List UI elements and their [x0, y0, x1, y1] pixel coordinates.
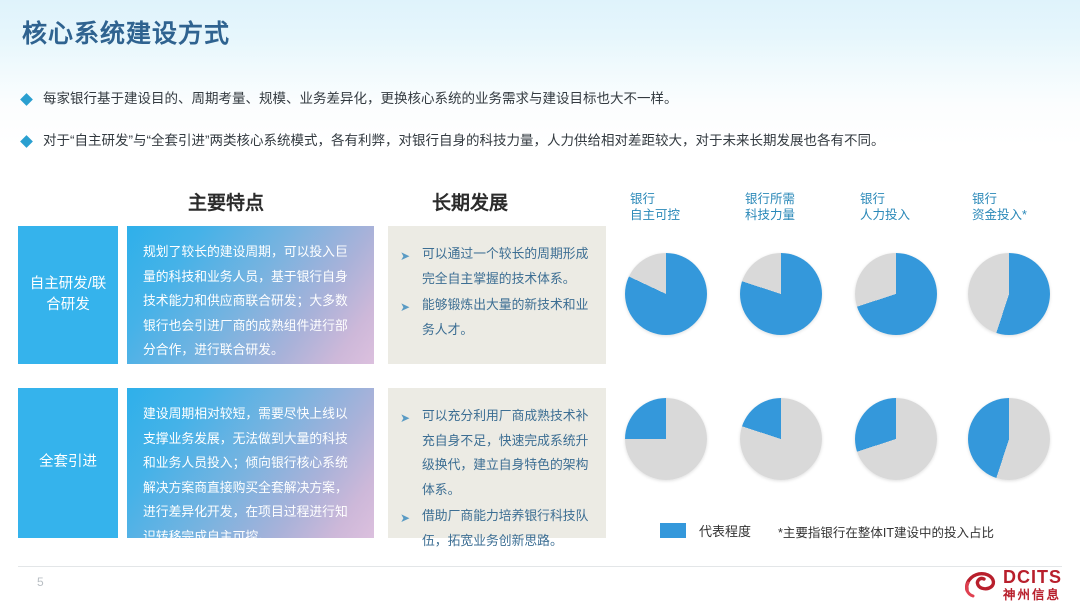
pie-header-2-line1: 银行所需 [745, 192, 795, 208]
pie-header-1-line2: 自主可控 [630, 208, 680, 224]
note-item: ➤ 能够锻炼出大量的新技术和业务人才。 [400, 293, 594, 342]
row-label-1: 自主研发/联合研发 [18, 226, 118, 364]
pie-chart-funding-selfdev [968, 253, 1050, 335]
logo-text: DCITS 神州信息 [1003, 568, 1062, 602]
column-title-longterm: 长期发展 [432, 188, 508, 215]
company-logo: DCITS 神州信息 [963, 568, 1062, 602]
pie-header-3-line2: 人力投入 [860, 208, 910, 224]
pie-column-header-3: 银行 人力投入 [860, 192, 910, 223]
pie-chart-autonomy-selfdev [625, 253, 707, 335]
diamond-bullet-icon [20, 93, 33, 106]
column-title-features: 主要特点 [188, 188, 264, 215]
footer-divider [18, 566, 1062, 567]
arrow-bullet-icon: ➤ [400, 407, 416, 430]
row-notes-1: ➤ 可以通过一个较长的周期形成完全自主掌握的技术体系。 ➤ 能够锻炼出大量的新技… [388, 226, 606, 364]
row-label-2: 全套引进 [18, 388, 118, 538]
pie-chart-techpower-selfdev [740, 253, 822, 335]
pie-chart-techpower-fullimport [740, 398, 822, 480]
legend-swatch-filled [660, 523, 686, 538]
slide: 核心系统建设方式 每家银行基于建设目的、周期考量、规模、业务差异化，更换核心系统… [0, 0, 1080, 608]
arrow-bullet-icon: ➤ [400, 507, 416, 530]
bullet-item-2: 对于“自主研发”与“全套引进”两类核心系统模式，各有利弊，对银行自身的科技力量，… [22, 132, 884, 150]
legend-label: 代表程度 [699, 521, 751, 540]
arrow-bullet-icon: ➤ [400, 245, 416, 268]
diamond-bullet-icon [20, 135, 33, 148]
pie-header-2-line2: 科技力量 [745, 208, 795, 224]
pie-chart-autonomy-fullimport [625, 398, 707, 480]
note-text: 借助厂商能力培养银行科技队伍，拓宽业务创新思路。 [422, 504, 594, 553]
bullet-text-1: 每家银行基于建设目的、周期考量、规模、业务差异化，更换核心系统的业务需求与建设目… [43, 90, 678, 108]
note-text: 可以通过一个较长的周期形成完全自主掌握的技术体系。 [422, 242, 594, 291]
chart-footnote: *主要指银行在整体IT建设中的投入占比 [778, 522, 994, 541]
row-description-2: 建设周期相对较短，需要尽快上线以支撑业务发展，无法做到大量的科技和业务人员投入；… [127, 388, 374, 538]
logo-text-cn: 神州信息 [1003, 589, 1062, 602]
pie-header-1-line1: 银行 [630, 192, 680, 208]
note-item: ➤ 可以通过一个较长的周期形成完全自主掌握的技术体系。 [400, 242, 594, 291]
logo-text-en: DCITS [1003, 568, 1062, 586]
note-item: ➤ 借助厂商能力培养银行科技队伍，拓宽业务创新思路。 [400, 504, 594, 553]
row-description-1: 规划了较长的建设周期，可以投入巨量的科技和业务人员，基于银行自身技术能力和供应商… [127, 226, 374, 364]
pie-column-header-2: 银行所需 科技力量 [745, 192, 795, 223]
bullet-item-1: 每家银行基于建设目的、周期考量、规模、业务差异化，更换核心系统的业务需求与建设目… [22, 90, 678, 108]
pie-header-4-line2: 资金投入* [972, 208, 1027, 224]
pie-column-header-1: 银行 自主可控 [630, 192, 680, 223]
pie-chart-manpower-selfdev [855, 253, 937, 335]
page-title: 核心系统建设方式 [22, 14, 230, 50]
note-text: 可以充分利用厂商成熟技术补充自身不足，快速完成系统升级换代，建立自身特色的架构体… [422, 404, 594, 502]
row-notes-2: ➤ 可以充分利用厂商成熟技术补充自身不足，快速完成系统升级换代，建立自身特色的架… [388, 388, 606, 538]
arrow-bullet-icon: ➤ [400, 296, 416, 319]
pie-header-3-line1: 银行 [860, 192, 910, 208]
chart-legend: 代表程度 [660, 521, 751, 540]
page-number: 5 [37, 575, 44, 589]
note-text: 能够锻炼出大量的新技术和业务人才。 [422, 293, 594, 342]
slide-header: 核心系统建设方式 [0, 0, 1080, 62]
bullet-text-2: 对于“自主研发”与“全套引进”两类核心系统模式，各有利弊，对银行自身的科技力量，… [43, 132, 884, 150]
pie-chart-manpower-fullimport [855, 398, 937, 480]
pie-column-header-4: 银行 资金投入* [972, 192, 1027, 223]
pie-header-4-line1: 银行 [972, 192, 1027, 208]
dcits-logo-icon [963, 570, 997, 600]
note-item: ➤ 可以充分利用厂商成熟技术补充自身不足，快速完成系统升级换代，建立自身特色的架… [400, 404, 594, 502]
pie-chart-funding-fullimport [968, 398, 1050, 480]
